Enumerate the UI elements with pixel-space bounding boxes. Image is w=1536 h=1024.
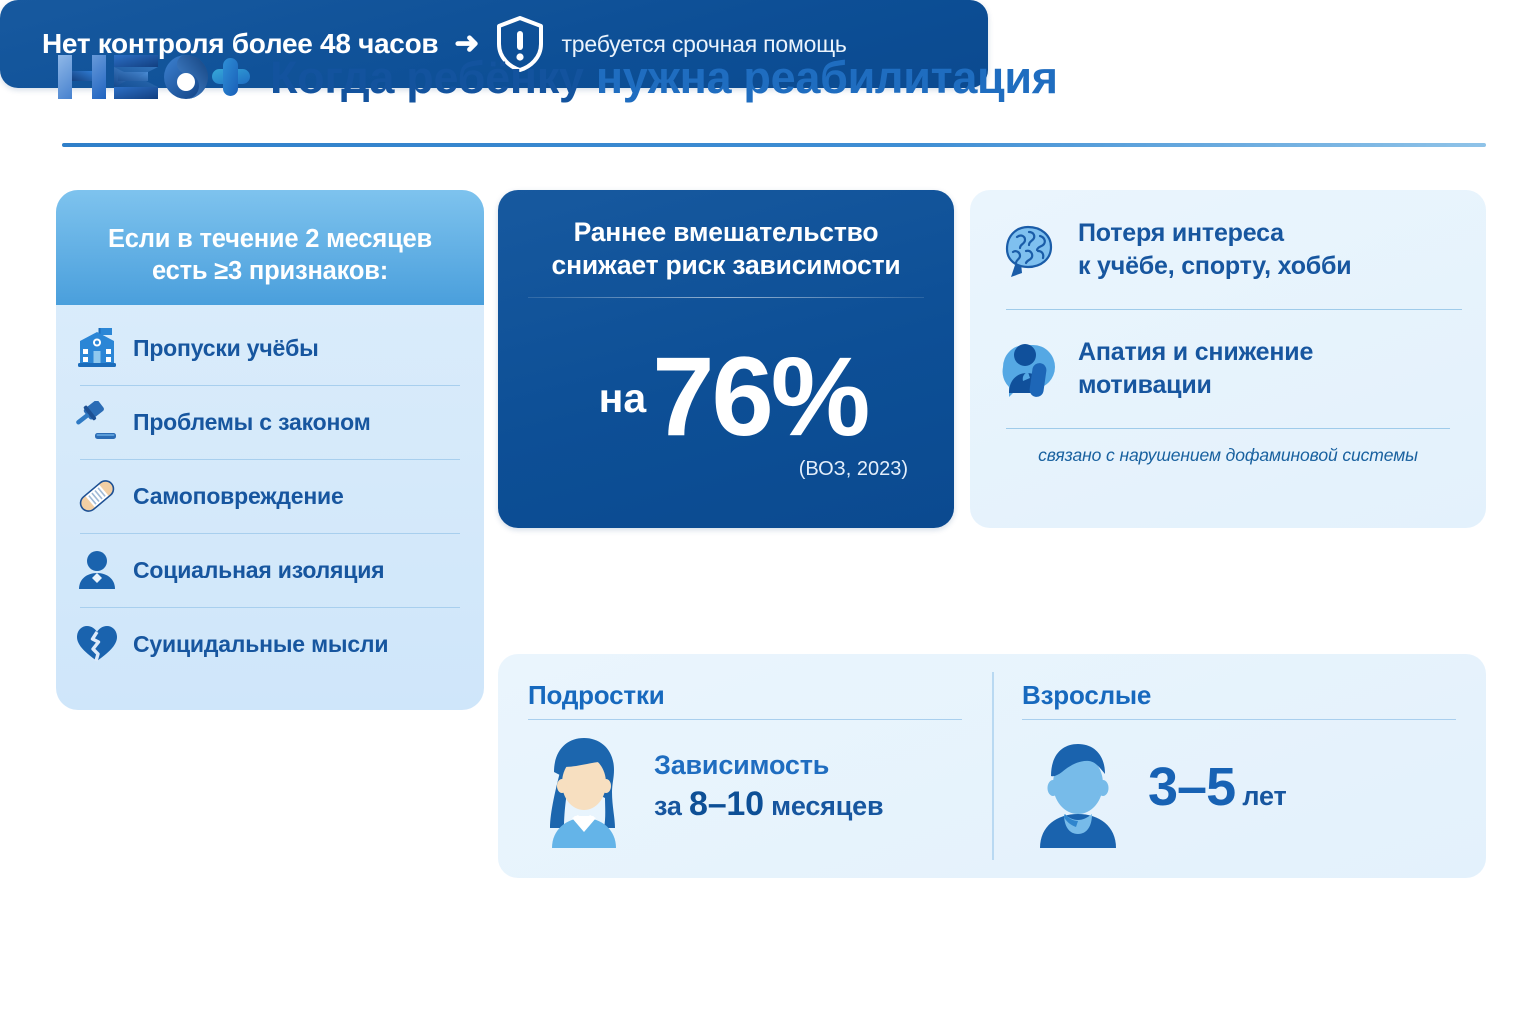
compare-adults: Взрослые 3–5 лет [992, 654, 1486, 878]
list-item[interactable]: Апатия и снижение мотивации [970, 309, 1486, 428]
compare-teens: Подростки [498, 654, 992, 878]
neo-plus-logo [56, 49, 252, 105]
compare-teens-prefix: за [654, 791, 689, 821]
symptom-text: Апатия и снижение мотивации [1078, 336, 1313, 401]
symptoms-note: связано с нарушением дофаминовой системы [970, 429, 1486, 466]
symptom-line1: Апатия и снижение [1078, 338, 1313, 366]
stat-heading-line2: снижает риск зависимости [522, 249, 930, 282]
list-item[interactable]: Суицидальные мысли [74, 607, 462, 681]
warning-signs-heading-line2: есть ≥3 признаков: [152, 256, 388, 287]
adult-man-avatar [1022, 726, 1134, 848]
stat-heading-line1: Раннее вмешательство [522, 216, 930, 249]
list-item[interactable]: Самоповреждение [74, 459, 462, 533]
compare-teens-line1: Зависимость [654, 750, 883, 781]
lone-person-icon [74, 547, 120, 593]
compare-adults-unit: лет [1235, 781, 1286, 811]
stat-figure: на 76% [498, 298, 954, 448]
list-item-label: Социальная изоляция [133, 557, 384, 584]
list-item[interactable]: Пропуски учёбы [74, 311, 462, 385]
symptom-text: Потеря интереса к учёбе, спорту, хобби [1078, 217, 1351, 282]
apathy-icon [994, 338, 1060, 400]
broken-heart-icon [74, 621, 120, 667]
stat-heading: Раннее вмешательство снижает риск зависи… [498, 190, 954, 283]
symptom-line1: Потеря интереса [1078, 219, 1284, 247]
page-header: Когда ребёнку нужна реабилитация [56, 46, 1486, 108]
symptoms-card: Потеря интереса к учёбе, спорту, хобби А… [970, 190, 1486, 528]
symptom-line2: к учёбе, спорту, хобби [1078, 252, 1351, 280]
header-divider [62, 143, 1486, 147]
compare-teens-title: Подростки [528, 680, 962, 711]
compare-teens-text: Зависимость за 8–10 месяцев [654, 750, 883, 824]
page-title-strong: Когда ребёнку [270, 52, 584, 103]
school-icon [74, 325, 120, 371]
list-item[interactable]: Социальная изоляция [74, 533, 462, 607]
bandage-icon [74, 473, 120, 519]
warning-signs-header: Если в течение 2 месяцев есть ≥3 признак… [56, 190, 484, 305]
compare-teens-value: 8–10 [689, 785, 764, 823]
warning-signs-heading-line1: Если в течение 2 месяцев [108, 224, 432, 255]
stat-value: 76% [652, 345, 867, 448]
warning-signs-panel: Если в течение 2 месяцев есть ≥3 признак… [56, 190, 484, 710]
gavel-icon [74, 399, 120, 445]
list-item[interactable]: Проблемы с законом [74, 385, 462, 459]
list-item-label: Проблемы с законом [133, 409, 371, 436]
stat-card: Раннее вмешательство снижает риск зависи… [498, 190, 954, 528]
compare-teens-divider [528, 719, 962, 720]
infographic-page: Когда ребёнку нужна реабилитация Если в … [0, 0, 1536, 1024]
compare-card: Подростки [498, 654, 1486, 878]
compare-adults-title: Взрослые [1022, 680, 1456, 711]
list-item-label: Суицидальные мысли [133, 631, 388, 658]
teen-girl-avatar [528, 726, 640, 848]
compare-adults-divider [1022, 719, 1456, 720]
compare-teens-suffix: месяцев [764, 791, 884, 821]
brain-icon [994, 219, 1060, 281]
list-item-label: Пропуски учёбы [133, 335, 319, 362]
page-title-light: нужна реабилитация [584, 52, 1058, 103]
stat-prefix: на [599, 375, 647, 422]
compare-teens-line2: за 8–10 месяцев [654, 785, 883, 824]
list-item-label: Самоповреждение [133, 483, 344, 510]
list-item[interactable]: Потеря интереса к учёбе, спорту, хобби [970, 190, 1486, 309]
warning-signs-list: Пропуски учёбы Проблемы с законом [56, 305, 484, 691]
compare-adults-value: 3–5 [1148, 757, 1235, 817]
page-title: Когда ребёнку нужна реабилитация [270, 55, 1058, 100]
symptom-line2: мотивации [1078, 371, 1212, 399]
compare-adults-text: 3–5 лет [1148, 756, 1287, 818]
